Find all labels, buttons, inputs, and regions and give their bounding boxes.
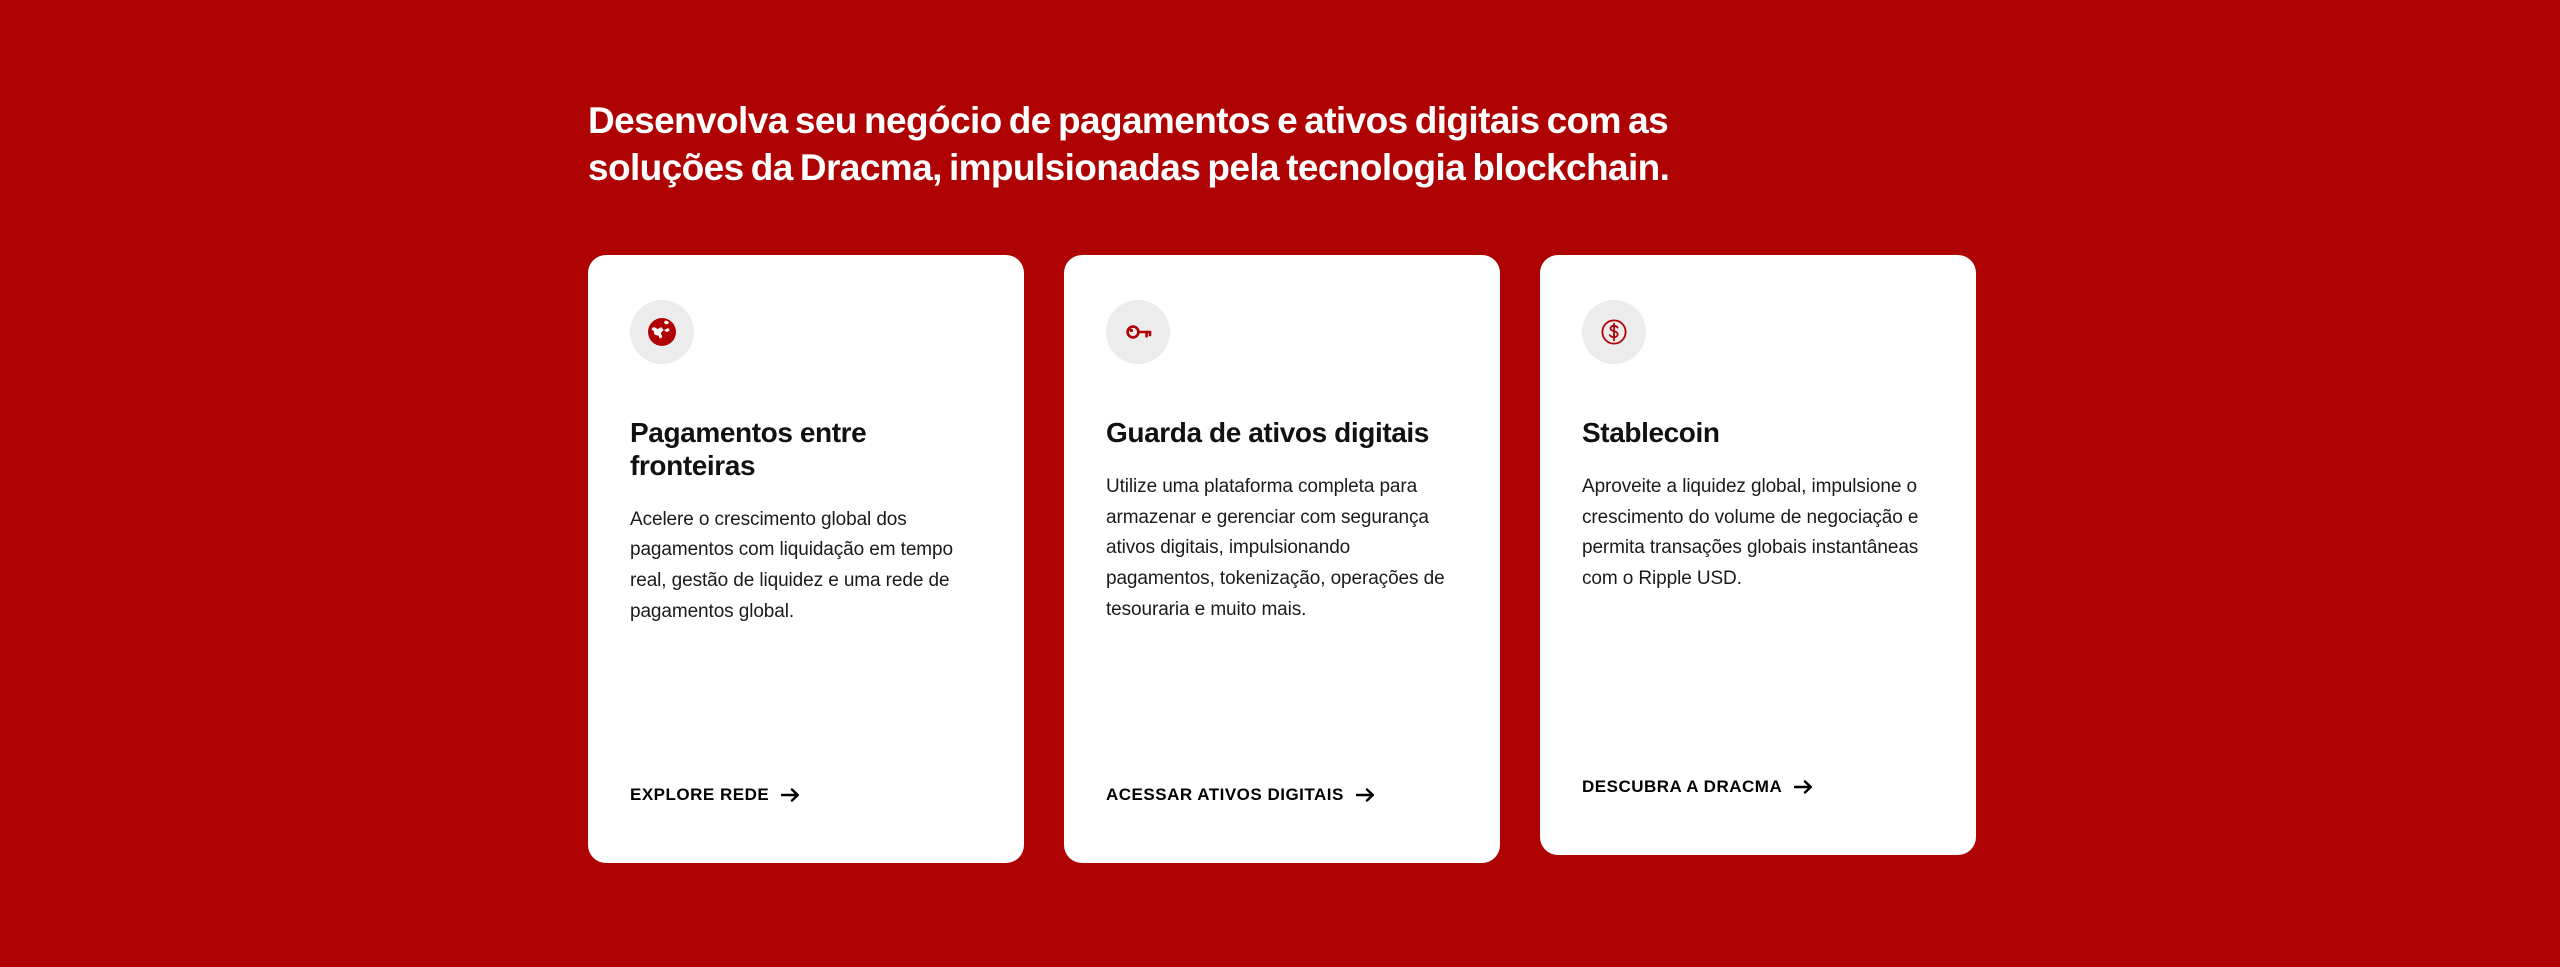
- card-title: Stablecoin: [1582, 417, 1934, 450]
- cta-label: ACESSAR ATIVOS DIGITAIS: [1106, 785, 1344, 805]
- key-icon: [1106, 300, 1170, 364]
- arrow-right-icon: [781, 787, 800, 803]
- card-description: Acelere o crescimento global dos pagamen…: [630, 505, 982, 628]
- card-description: Aproveite a liquidez global, impulsione …: [1582, 472, 1934, 595]
- cta-label: DESCUBRA A DRACMA: [1582, 777, 1782, 797]
- descubra-a-dracma-link[interactable]: DESCUBRA A DRACMA: [1582, 777, 1934, 797]
- feature-card-cross-border-payments[interactable]: Pagamentos entre fronteiras Acelere o cr…: [588, 255, 1024, 863]
- acessar-ativos-digitais-link[interactable]: ACESSAR ATIVOS DIGITAIS: [1106, 785, 1458, 805]
- arrow-right-icon: [1794, 779, 1813, 795]
- card-description: Utilize uma plataforma completa para arm…: [1106, 472, 1458, 626]
- card-title: Pagamentos entre fronteiras: [630, 417, 982, 483]
- globe-icon: [630, 300, 694, 364]
- headline-line-2: soluções da Dracma, impulsionadas pela t…: [588, 147, 1669, 188]
- cta-label: EXPLORE REDE: [630, 785, 769, 805]
- headline-line-1: Desenvolva seu negócio de pagamentos e a…: [588, 100, 1668, 141]
- card-title: Guarda de ativos digitais: [1106, 417, 1458, 450]
- feature-card-stablecoin[interactable]: Stablecoin Aproveite a liquidez global, …: [1540, 255, 1976, 855]
- page-title: Desenvolva seu negócio de pagamentos e a…: [588, 98, 1748, 192]
- feature-card-digital-asset-custody[interactable]: Guarda de ativos digitais Utilize uma pl…: [1064, 255, 1500, 863]
- page-root: Desenvolva seu negócio de pagamentos e a…: [0, 0, 2560, 967]
- feature-card-grid: Pagamentos entre fronteiras Acelere o cr…: [588, 255, 1976, 863]
- explore-rede-link[interactable]: EXPLORE REDE: [630, 785, 982, 805]
- arrow-right-icon: [1356, 787, 1375, 803]
- dollar-circle-icon: [1582, 300, 1646, 364]
